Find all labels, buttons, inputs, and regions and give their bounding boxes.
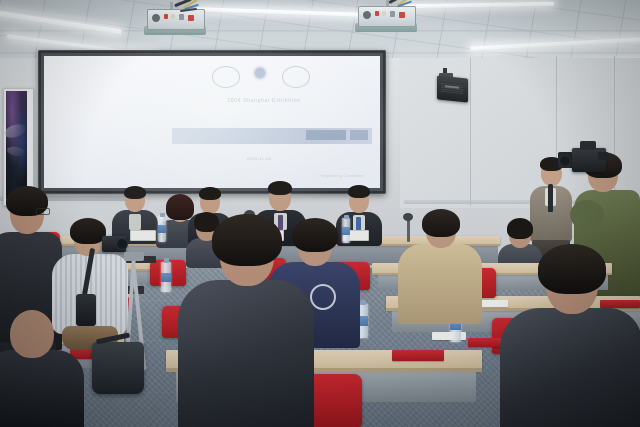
handheld-microphone [548, 184, 553, 204]
name-placard [130, 230, 156, 241]
slide-title: 2004 Shanghai Exhibition [164, 98, 364, 104]
eyeglasses [36, 208, 50, 215]
slide-arc-left [212, 66, 240, 88]
water-bottle [161, 262, 171, 292]
camera-pouch [76, 294, 96, 326]
slide-band-accent [306, 130, 346, 140]
slide-band-accent [350, 130, 368, 140]
wall-mounted-speaker [437, 68, 471, 106]
water-bottle [158, 216, 166, 242]
slide-footer: Organizing Committee [224, 174, 364, 178]
ceiling-projector [140, 2, 210, 36]
attendee-front-center [178, 224, 314, 427]
camera-bag [92, 342, 144, 394]
slide-arc-right [282, 66, 310, 88]
red-document-folder [392, 350, 444, 361]
slide-date: 2004.11.16 [194, 156, 324, 161]
attendee-left-shoulder [0, 330, 84, 427]
video-camera [558, 146, 612, 182]
dslr-camera [102, 236, 126, 252]
projection-screen-frame: 2004 Shanghai Exhibition 2004.11.16 Orga… [38, 50, 386, 194]
projection-screen-surface: 2004 Shanghai Exhibition 2004.11.16 Orga… [44, 56, 380, 188]
attendee-beige-coat [398, 214, 482, 324]
tripod-head [124, 252, 144, 261]
attendee-front-right [500, 254, 640, 427]
ceiling-projector [352, 0, 422, 34]
slide-emblem [252, 65, 268, 81]
artwork-canvas [6, 91, 27, 199]
conference-room-photo: 2004 Shanghai Exhibition 2004.11.16 Orga… [0, 0, 640, 427]
